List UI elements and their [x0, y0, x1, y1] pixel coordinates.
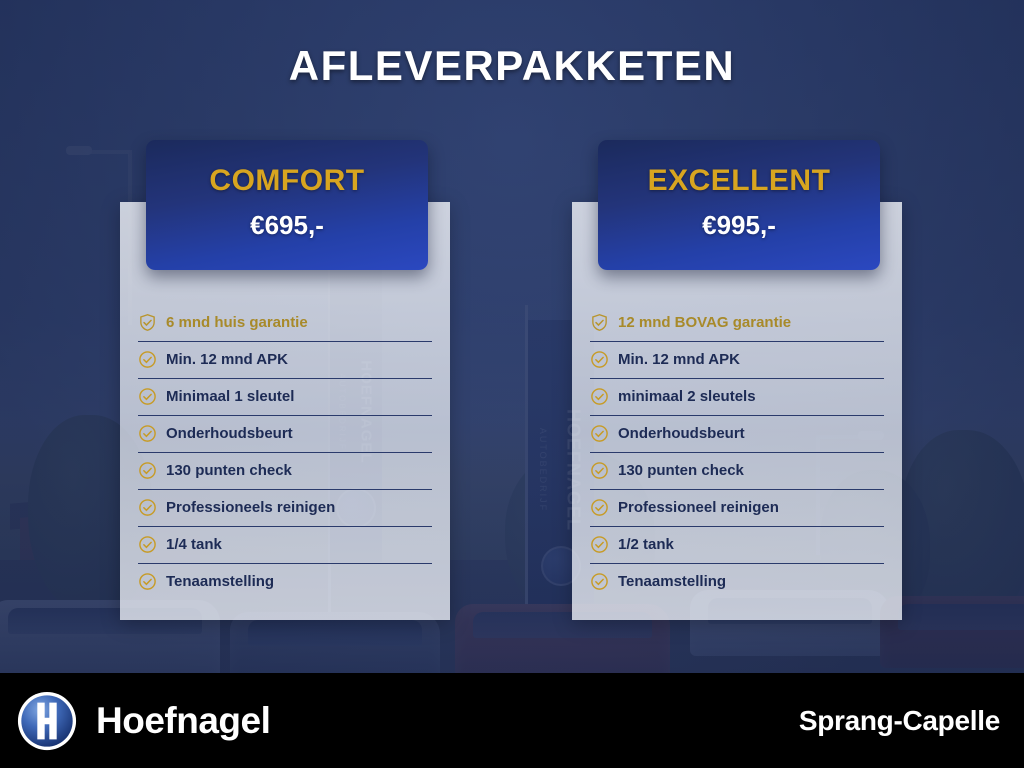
feature-label: Professioneel reinigen [618, 499, 779, 516]
hoefnagel-logo-icon [16, 690, 78, 752]
circle-check-icon [138, 498, 157, 517]
circle-check-icon [138, 350, 157, 369]
feature-label: Min. 12 mnd APK [618, 351, 740, 368]
feature-label: Min. 12 mnd APK [166, 351, 288, 368]
circle-check-icon [138, 572, 157, 591]
package-name: EXCELLENT [598, 164, 880, 198]
feature-label: Tenaamstelling [618, 573, 726, 590]
location-label: Sprang-Capelle [799, 705, 1000, 737]
feature-item: 1/2 tank [590, 527, 884, 564]
feature-label: Onderhoudsbeurt [166, 425, 293, 442]
shield-check-icon [590, 313, 609, 332]
feature-label: Minimaal 1 sleutel [166, 388, 294, 405]
feature-item: Min. 12 mnd APK [590, 342, 884, 379]
feature-item: minimaal 2 sleutels [590, 379, 884, 416]
feature-item: Tenaamstelling [138, 564, 432, 601]
shield-check-icon [138, 313, 157, 332]
feature-item: Min. 12 mnd APK [138, 342, 432, 379]
feature-label: Tenaamstelling [166, 573, 274, 590]
feature-label: 12 mnd BOVAG garantie [618, 314, 791, 331]
brand-block: Hoefnagel [16, 690, 270, 752]
page-title: AFLEVERPAKKETEN [0, 42, 1024, 90]
feature-label: 6 mnd huis garantie [166, 314, 308, 331]
package-name: COMFORT [146, 164, 428, 198]
package-header: COMFORT €695,- [146, 140, 428, 270]
circle-check-icon [590, 350, 609, 369]
feature-label: Onderhoudsbeurt [618, 425, 745, 442]
feature-item: Minimaal 1 sleutel [138, 379, 432, 416]
circle-check-icon [590, 424, 609, 443]
feature-label: minimaal 2 sleutels [618, 388, 756, 405]
footer-bar: Hoefnagel Sprang-Capelle [0, 673, 1024, 768]
circle-check-icon [590, 572, 609, 591]
feature-label: Professioneels reinigen [166, 499, 335, 516]
feature-item: 130 punten check [590, 453, 884, 490]
package-header: EXCELLENT €995,- [598, 140, 880, 270]
package-price: €695,- [146, 210, 428, 241]
circle-check-icon [590, 535, 609, 554]
feature-label: 1/4 tank [166, 536, 222, 553]
circle-check-icon [138, 387, 157, 406]
feature-item: 130 punten check [138, 453, 432, 490]
package-feature-list: 12 mnd BOVAG garantie Min. 12 mnd APK mi… [572, 305, 902, 601]
circle-check-icon [138, 424, 157, 443]
package-feature-list: 6 mnd huis garantie Min. 12 mnd APK Mini… [120, 305, 450, 601]
circle-check-icon [138, 535, 157, 554]
feature-item: Onderhoudsbeurt [590, 416, 884, 453]
circle-check-icon [138, 461, 157, 480]
feature-item: Onderhoudsbeurt [138, 416, 432, 453]
feature-label: 130 punten check [618, 462, 744, 479]
feature-label: 1/2 tank [618, 536, 674, 553]
circle-check-icon [590, 387, 609, 406]
package-price: €995,- [598, 210, 880, 241]
feature-item: 6 mnd huis garantie [138, 305, 432, 342]
slide-canvas: AUTOBEDRIJF HOEFNAGEL AUTOBEDRIJF HOEFNA… [0, 0, 1024, 768]
circle-check-icon [590, 498, 609, 517]
feature-item: 1/4 tank [138, 527, 432, 564]
feature-item: Professioneel reinigen [590, 490, 884, 527]
feature-item: Tenaamstelling [590, 564, 884, 601]
brand-name: Hoefnagel [96, 700, 270, 742]
feature-item: Professioneels reinigen [138, 490, 432, 527]
circle-check-icon [590, 461, 609, 480]
feature-label: 130 punten check [166, 462, 292, 479]
feature-item: 12 mnd BOVAG garantie [590, 305, 884, 342]
